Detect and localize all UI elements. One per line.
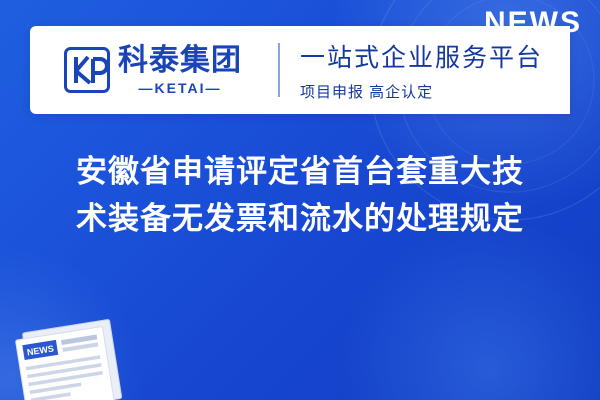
slogan-main: 一站式企业服务平台 [300,38,543,74]
headline: 安徽省申请评定省首台套重大技 术装备无发票和流水的处理规定 [0,148,600,242]
brand-name-en: —KETAI— [139,81,222,95]
slogan-block: 一站式企业服务平台 项目申报 高企认定 [300,38,543,102]
kp-logo-icon [64,47,110,93]
newspaper-icon: NEWS [12,314,128,400]
logo-wordmark: 科泰集团 —KETAI— [118,46,242,95]
headline-line-2: 术装备无发票和流水的处理规定 [0,195,600,242]
logo-block: 科泰集团 —KETAI— [30,46,274,95]
vertical-divider [278,43,280,97]
brand-header-card: 科泰集团 —KETAI— 一站式企业服务平台 项目申报 高企认定 [30,26,570,114]
glow-bottom-right [340,220,600,400]
news-banner: NEWS 科泰集团 —KETAI— 一站式企业服务平台 项目申报 高企认定 安徽… [0,0,600,400]
headline-line-1: 安徽省申请评定省首台套重大技 [0,148,600,195]
brand-name-cn: 科泰集团 [118,46,242,76]
slogan-sub: 项目申报 高企认定 [300,81,543,102]
